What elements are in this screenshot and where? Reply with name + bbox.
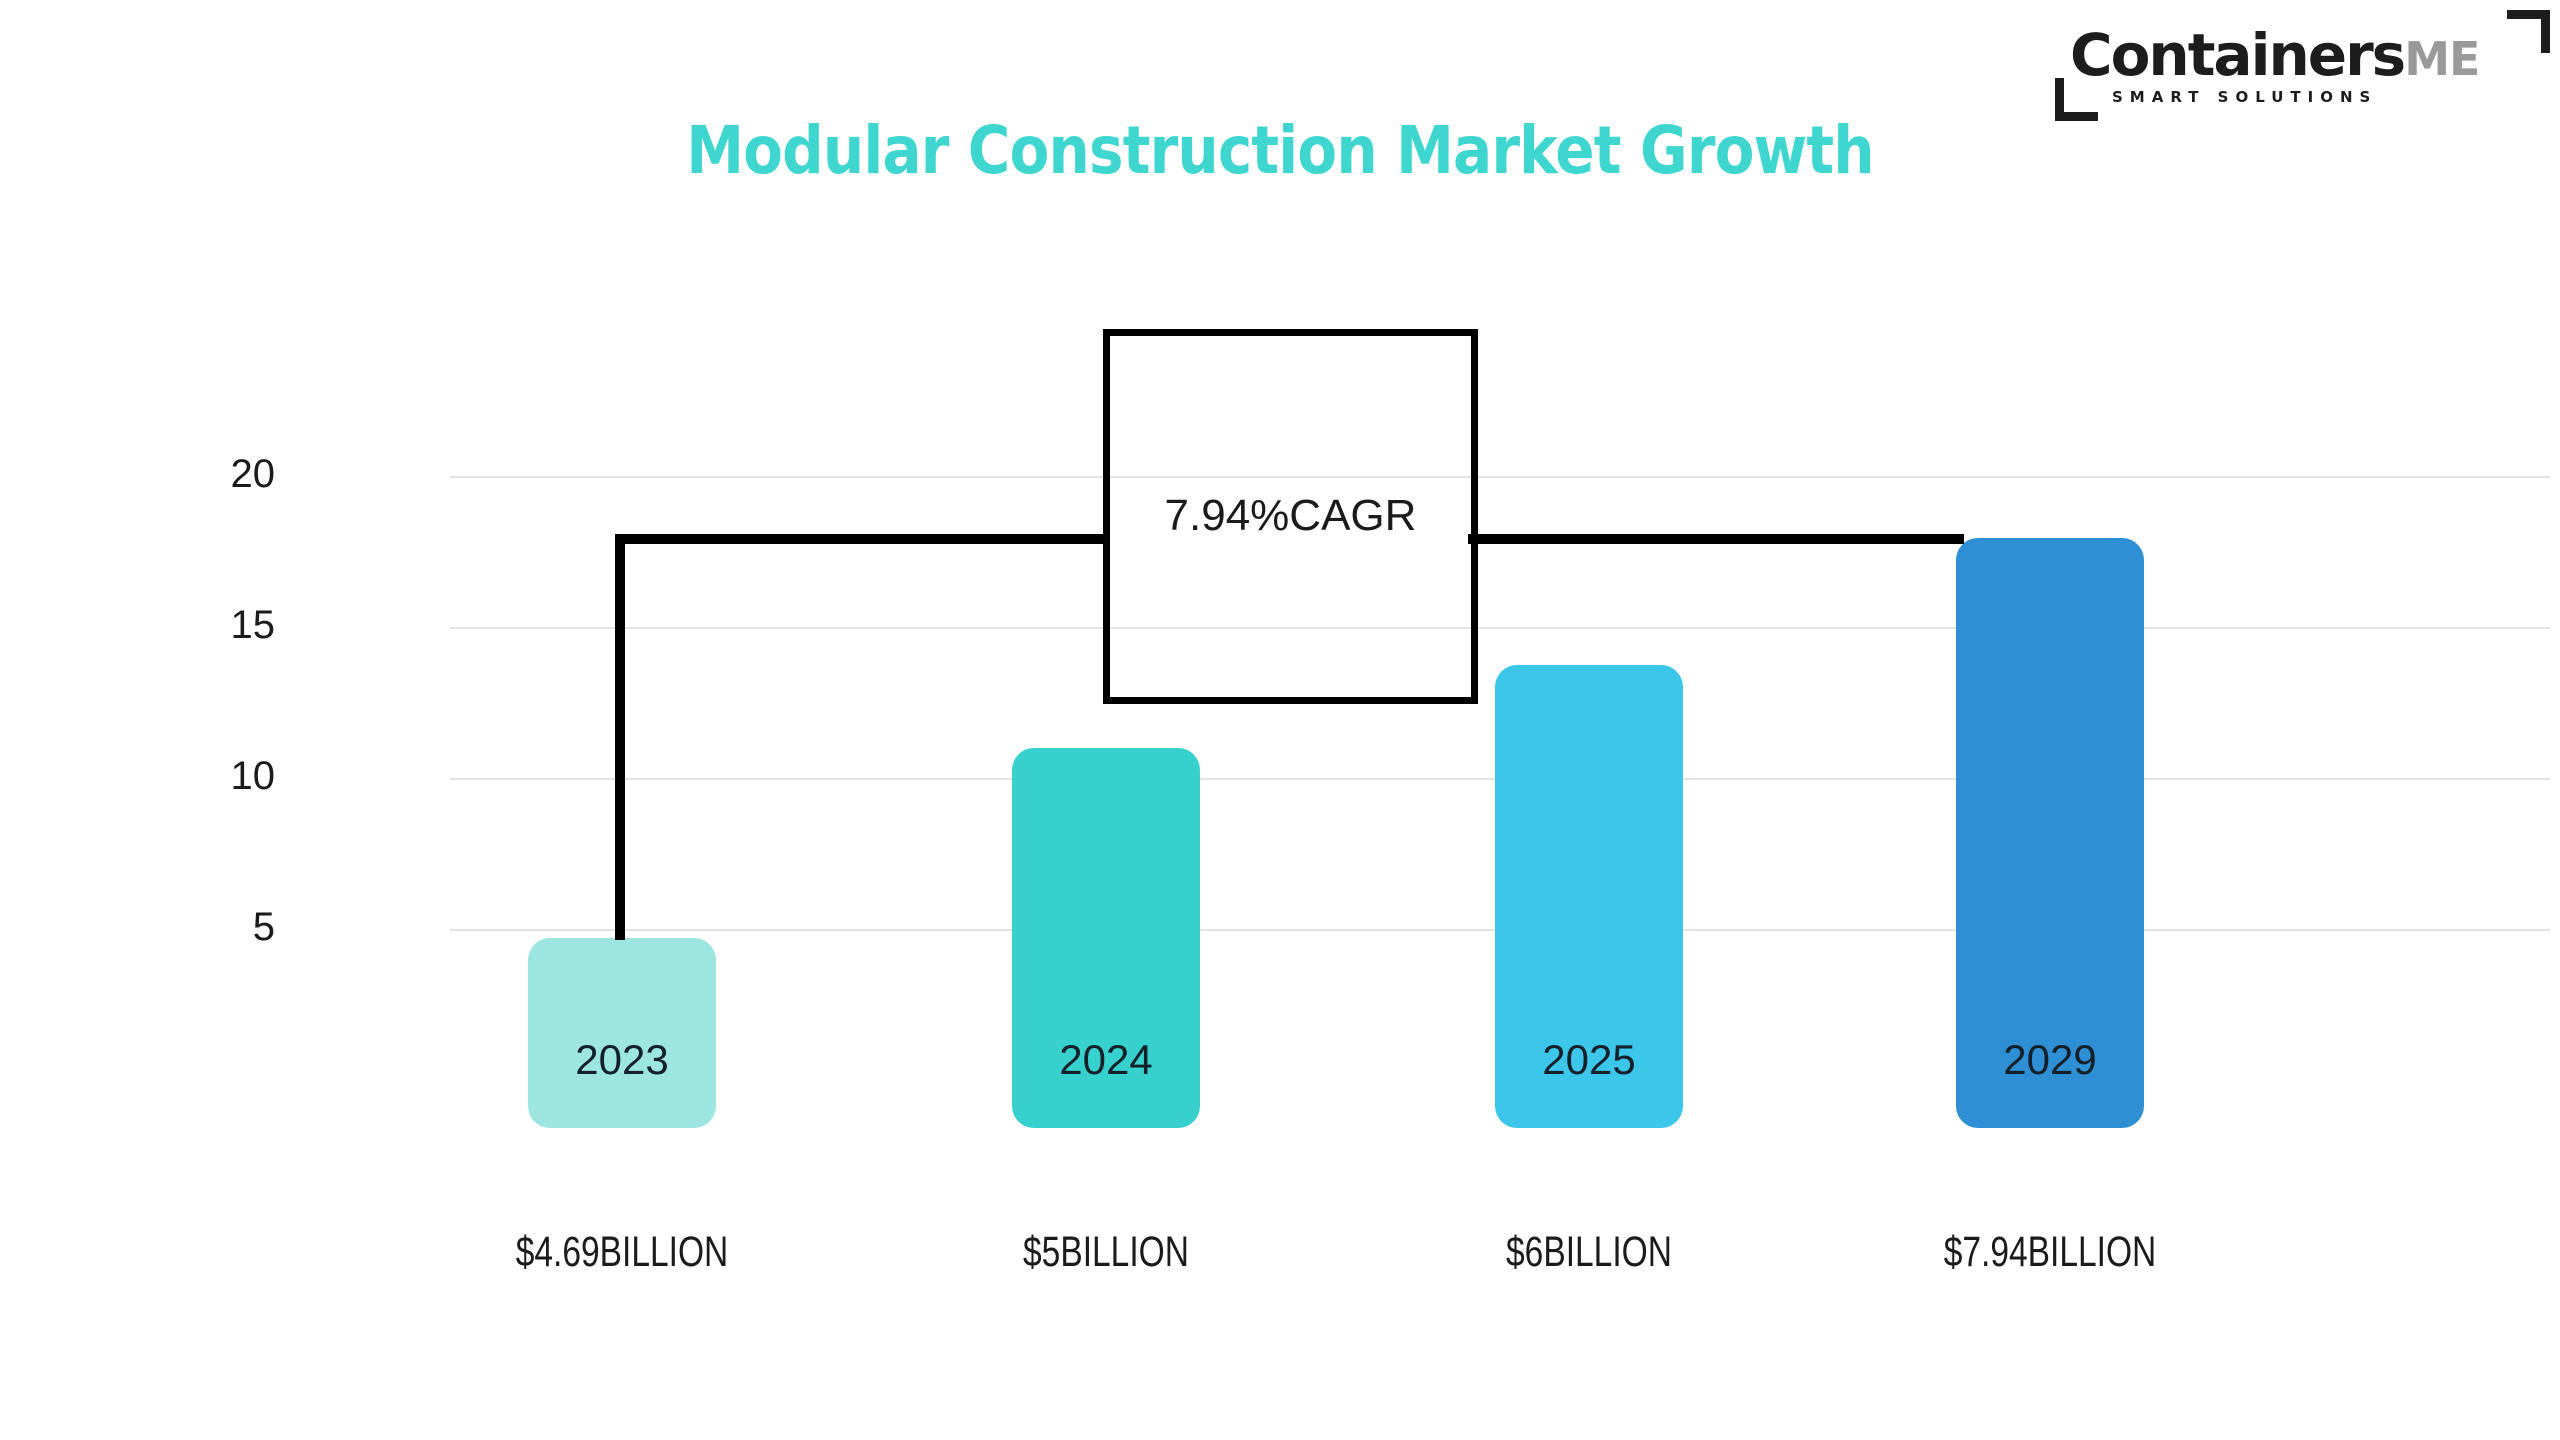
gridline-15: [450, 627, 2550, 629]
chart-plot-area: 20 15 10 5 2023 2024 2025 2029 $4.69BILL…: [0, 0, 2560, 1440]
cagr-callout-box[interactable]: 7.94%CAGR: [1103, 329, 1478, 704]
cagr-bracket-left-leg: [615, 534, 625, 940]
value-label-2024: $5BILLION: [950, 1228, 1262, 1277]
bar-label-2023: 2023: [528, 1036, 716, 1084]
bar-2025[interactable]: 2025: [1495, 665, 1683, 1128]
value-label-2025: $6BILLION: [1433, 1228, 1745, 1277]
bar-label-2025: 2025: [1495, 1036, 1683, 1084]
bar-label-2029: 2029: [1956, 1036, 2144, 1084]
cagr-bracket-right-arm: [1468, 534, 1964, 544]
cagr-bracket-left-arm: [615, 534, 1110, 544]
bar-2023[interactable]: 2023: [528, 938, 716, 1128]
y-axis-tick-5: 5: [155, 905, 275, 950]
y-axis-tick-15: 15: [155, 603, 275, 648]
value-label-2023: $4.69BILLION: [466, 1228, 778, 1277]
y-axis-tick-20: 20: [155, 452, 275, 497]
y-axis-tick-10: 10: [155, 754, 275, 799]
bar-label-2024: 2024: [1012, 1036, 1200, 1084]
value-label-2029: $7.94BILLION: [1894, 1228, 2206, 1277]
bar-2024[interactable]: 2024: [1012, 748, 1200, 1128]
bar-2029[interactable]: 2029: [1956, 538, 2144, 1128]
gridline-20: [450, 476, 2550, 478]
cagr-value-label: 7.94%CAGR: [1110, 491, 1471, 541]
